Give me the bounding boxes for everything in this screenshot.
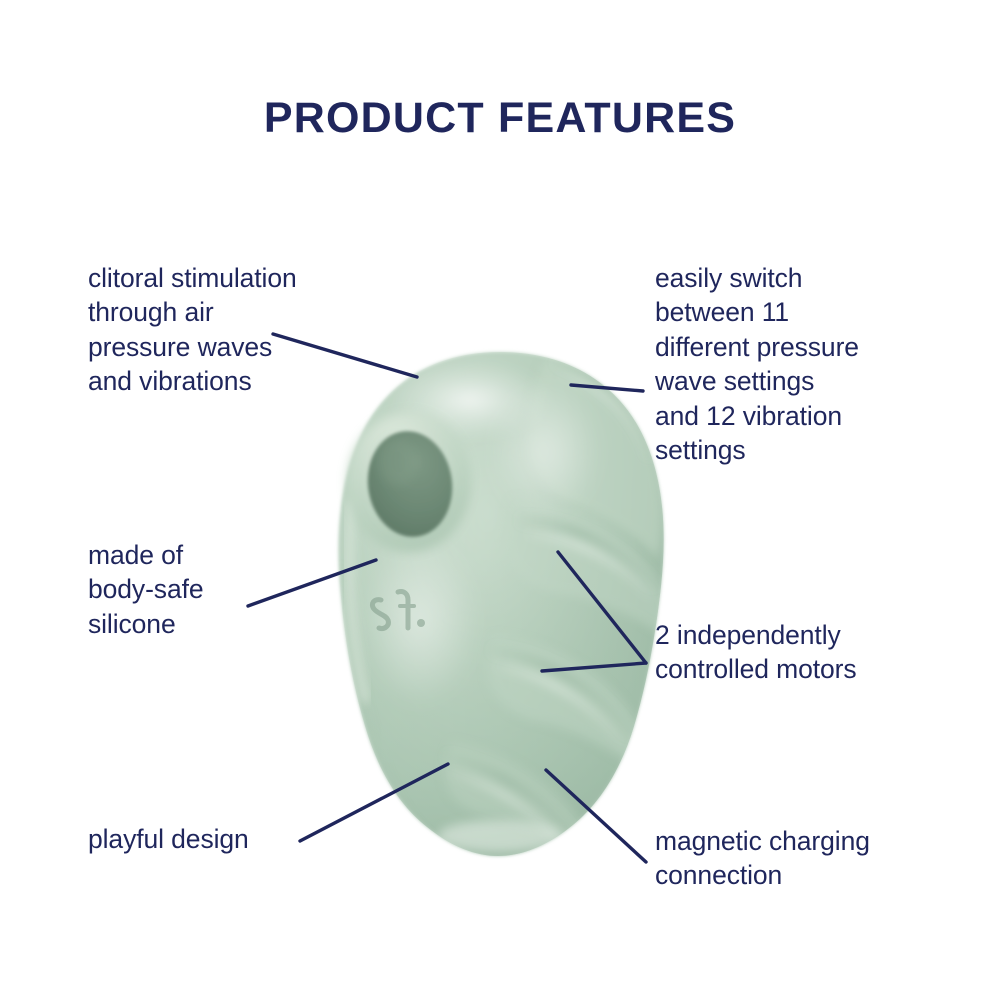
feature-label-independent-motors: 2 independently controlled motors	[655, 618, 935, 687]
leader-pressure-wave-settings	[571, 385, 643, 391]
leader-independent-motors-b	[542, 663, 646, 671]
feature-label-magnetic-charging: magnetic charging connection	[655, 824, 940, 893]
feature-label-body-safe-silicone: made of body-safe silicone	[88, 538, 328, 641]
feature-label-playful-design: playful design	[88, 822, 348, 856]
product-features-infographic: PRODUCT FEATURES	[0, 0, 1000, 1000]
leader-magnetic-charging	[546, 770, 646, 862]
feature-label-pressure-wave-settings: easily switch between 11 different press…	[655, 261, 930, 468]
feature-label-clitoral-stimulation: clitoral stimulation through air pressur…	[88, 261, 388, 399]
leader-independent-motors-a	[558, 552, 646, 663]
